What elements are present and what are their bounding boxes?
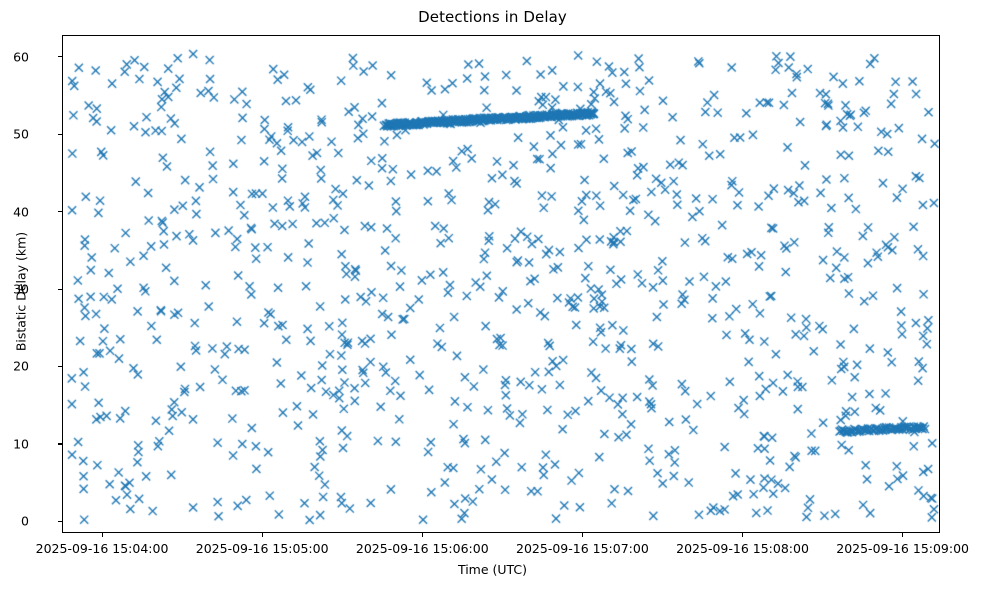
x-tick-label: 2025-09-16 15:09:00 <box>836 541 969 556</box>
x-tick-mark <box>742 533 743 537</box>
x-tick-label: 2025-09-16 15:08:00 <box>676 541 809 556</box>
plot-area <box>62 35 940 533</box>
x-tick-label: 2025-09-16 15:06:00 <box>356 541 489 556</box>
x-tick-mark <box>902 533 903 537</box>
x-axis-label: Time (UTC) <box>0 562 985 577</box>
x-tick-mark <box>422 533 423 537</box>
x-tick-mark <box>582 533 583 537</box>
x-tick-label: 2025-09-16 15:04:00 <box>36 541 169 556</box>
x-tick-mark <box>262 533 263 537</box>
scatter-plot-canvas <box>63 36 940 533</box>
x-tick-label: 2025-09-16 15:07:00 <box>516 541 649 556</box>
x-tick-label: 2025-09-16 15:05:00 <box>196 541 329 556</box>
matplotlib-figure: Detections in Delay Bistatic Delay (km) … <box>0 0 985 590</box>
x-tick-mark <box>102 533 103 537</box>
